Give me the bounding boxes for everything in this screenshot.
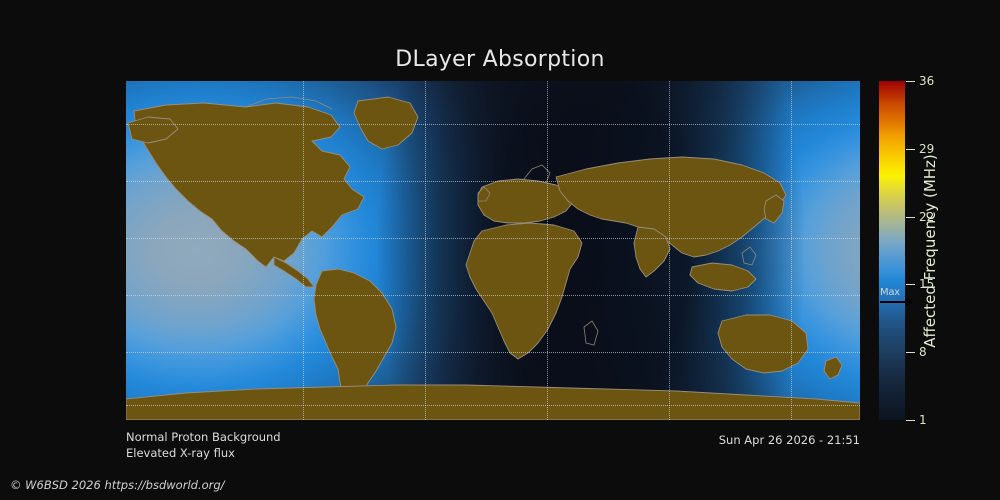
gridline-lat-60n xyxy=(126,124,860,125)
gridline-lat-0 xyxy=(126,238,860,239)
landmass-central-america xyxy=(274,257,314,287)
coastline-madagascar xyxy=(584,321,598,345)
colorbar-tick-mark xyxy=(906,217,915,218)
landmass-greenland xyxy=(354,97,418,149)
gridline-lon-60w xyxy=(425,81,426,420)
gridline-lon-60e xyxy=(669,81,670,420)
colorbar[interactable]: 36 29 22 15 8 1 Max xyxy=(879,81,905,420)
page-title: DLayer Absorption xyxy=(0,47,1000,72)
landmass-africa xyxy=(466,223,582,359)
colorbar-tick-mark xyxy=(906,81,915,82)
timestamp: Sun Apr 26 2026 - 21:51 xyxy=(719,433,860,447)
gridline-lon-120w xyxy=(303,81,304,420)
gridline-lat-30n xyxy=(126,181,860,182)
landmass-south-america xyxy=(314,269,396,403)
proton-background-note: Normal Proton Background xyxy=(126,429,281,445)
gridline-lat-60s xyxy=(126,352,860,353)
colorbar-gradient xyxy=(879,81,905,420)
landmass-asia xyxy=(556,157,786,257)
landmass-australia xyxy=(718,315,808,373)
landmass-indonesia xyxy=(690,263,756,291)
coastline-philippines xyxy=(742,247,756,265)
gridline-lon-0 xyxy=(547,81,548,420)
gridline-lon-120e xyxy=(791,81,792,420)
gridline-lat-80s xyxy=(126,405,860,406)
colorbar-tick-mark xyxy=(906,352,915,353)
colorbar-axis-label: Affected Frequency (MHz) xyxy=(918,81,942,420)
gridline-lat-30s xyxy=(126,295,860,296)
space-weather-notes: Normal Proton Background Elevated X-ray … xyxy=(126,429,281,461)
copyright-notice: © W6BSD 2026 https://bsdworld.org/ xyxy=(10,478,225,492)
continents-layer xyxy=(126,81,860,420)
colorbar-tick-mark xyxy=(906,420,915,421)
landmass-new-zealand xyxy=(824,357,842,379)
figure-root: DLayer Absorption xyxy=(0,0,1000,500)
colorbar-axis-label-text: Affected Frequency (MHz) xyxy=(921,154,939,348)
world-absorption-map[interactable] xyxy=(126,81,860,420)
xray-flux-note: Elevated X-ray flux xyxy=(126,445,281,461)
colorbar-tick-mark xyxy=(906,149,915,150)
colorbar-tick-mark xyxy=(906,284,915,285)
landmass-antarctica xyxy=(126,385,860,420)
